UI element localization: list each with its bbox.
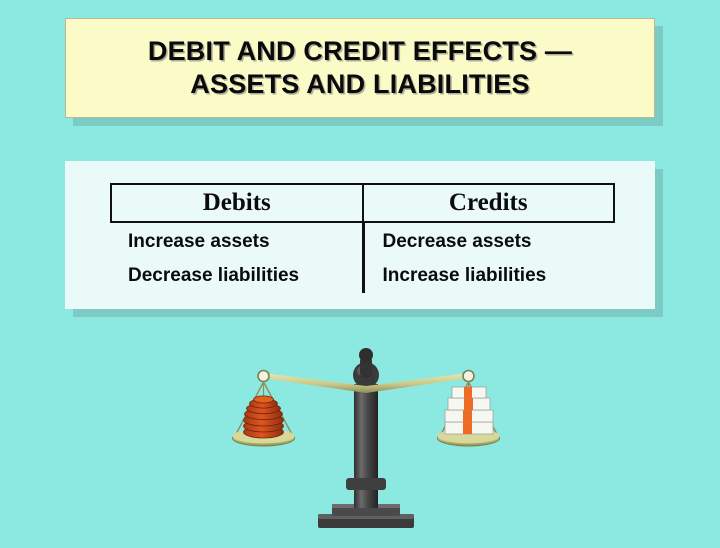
debits-credits-table: Debits Credits Increase assets Decrease … <box>110 183 615 293</box>
scale-column <box>346 348 386 508</box>
table-row: Decrease liabilities Increase liabilitie… <box>110 265 615 287</box>
table-panel: Debits Credits Increase assets Decrease … <box>65 161 655 309</box>
balance-scale-illustration <box>205 328 525 533</box>
table-row: Increase assets Decrease assets <box>110 231 615 253</box>
title-banner: DEBIT AND CREDIT EFFECTS — ASSETS AND LI… <box>65 18 655 118</box>
page-title-line-2: ASSETS AND LIABILITIES <box>148 68 572 101</box>
table-header-credits: Credits <box>364 185 614 221</box>
table-header-debits: Debits <box>112 185 364 221</box>
coin-stack <box>244 396 284 438</box>
slide: DEBIT AND CREDIT EFFECTS — ASSETS AND LI… <box>0 0 720 548</box>
cell-credit-effect-1: Decrease assets <box>361 231 616 253</box>
cell-debit-effect-1: Increase assets <box>110 231 361 253</box>
page-title-line-1: DEBIT AND CREDIT EFFECTS — <box>148 35 572 68</box>
page-title: DEBIT AND CREDIT EFFECTS — ASSETS AND LI… <box>138 35 582 101</box>
cell-debit-effect-2: Decrease liabilities <box>110 265 361 287</box>
cell-credit-effect-2: Increase liabilities <box>361 265 616 287</box>
banknote-stacks <box>445 387 493 434</box>
table-header-row: Debits Credits <box>110 183 615 223</box>
